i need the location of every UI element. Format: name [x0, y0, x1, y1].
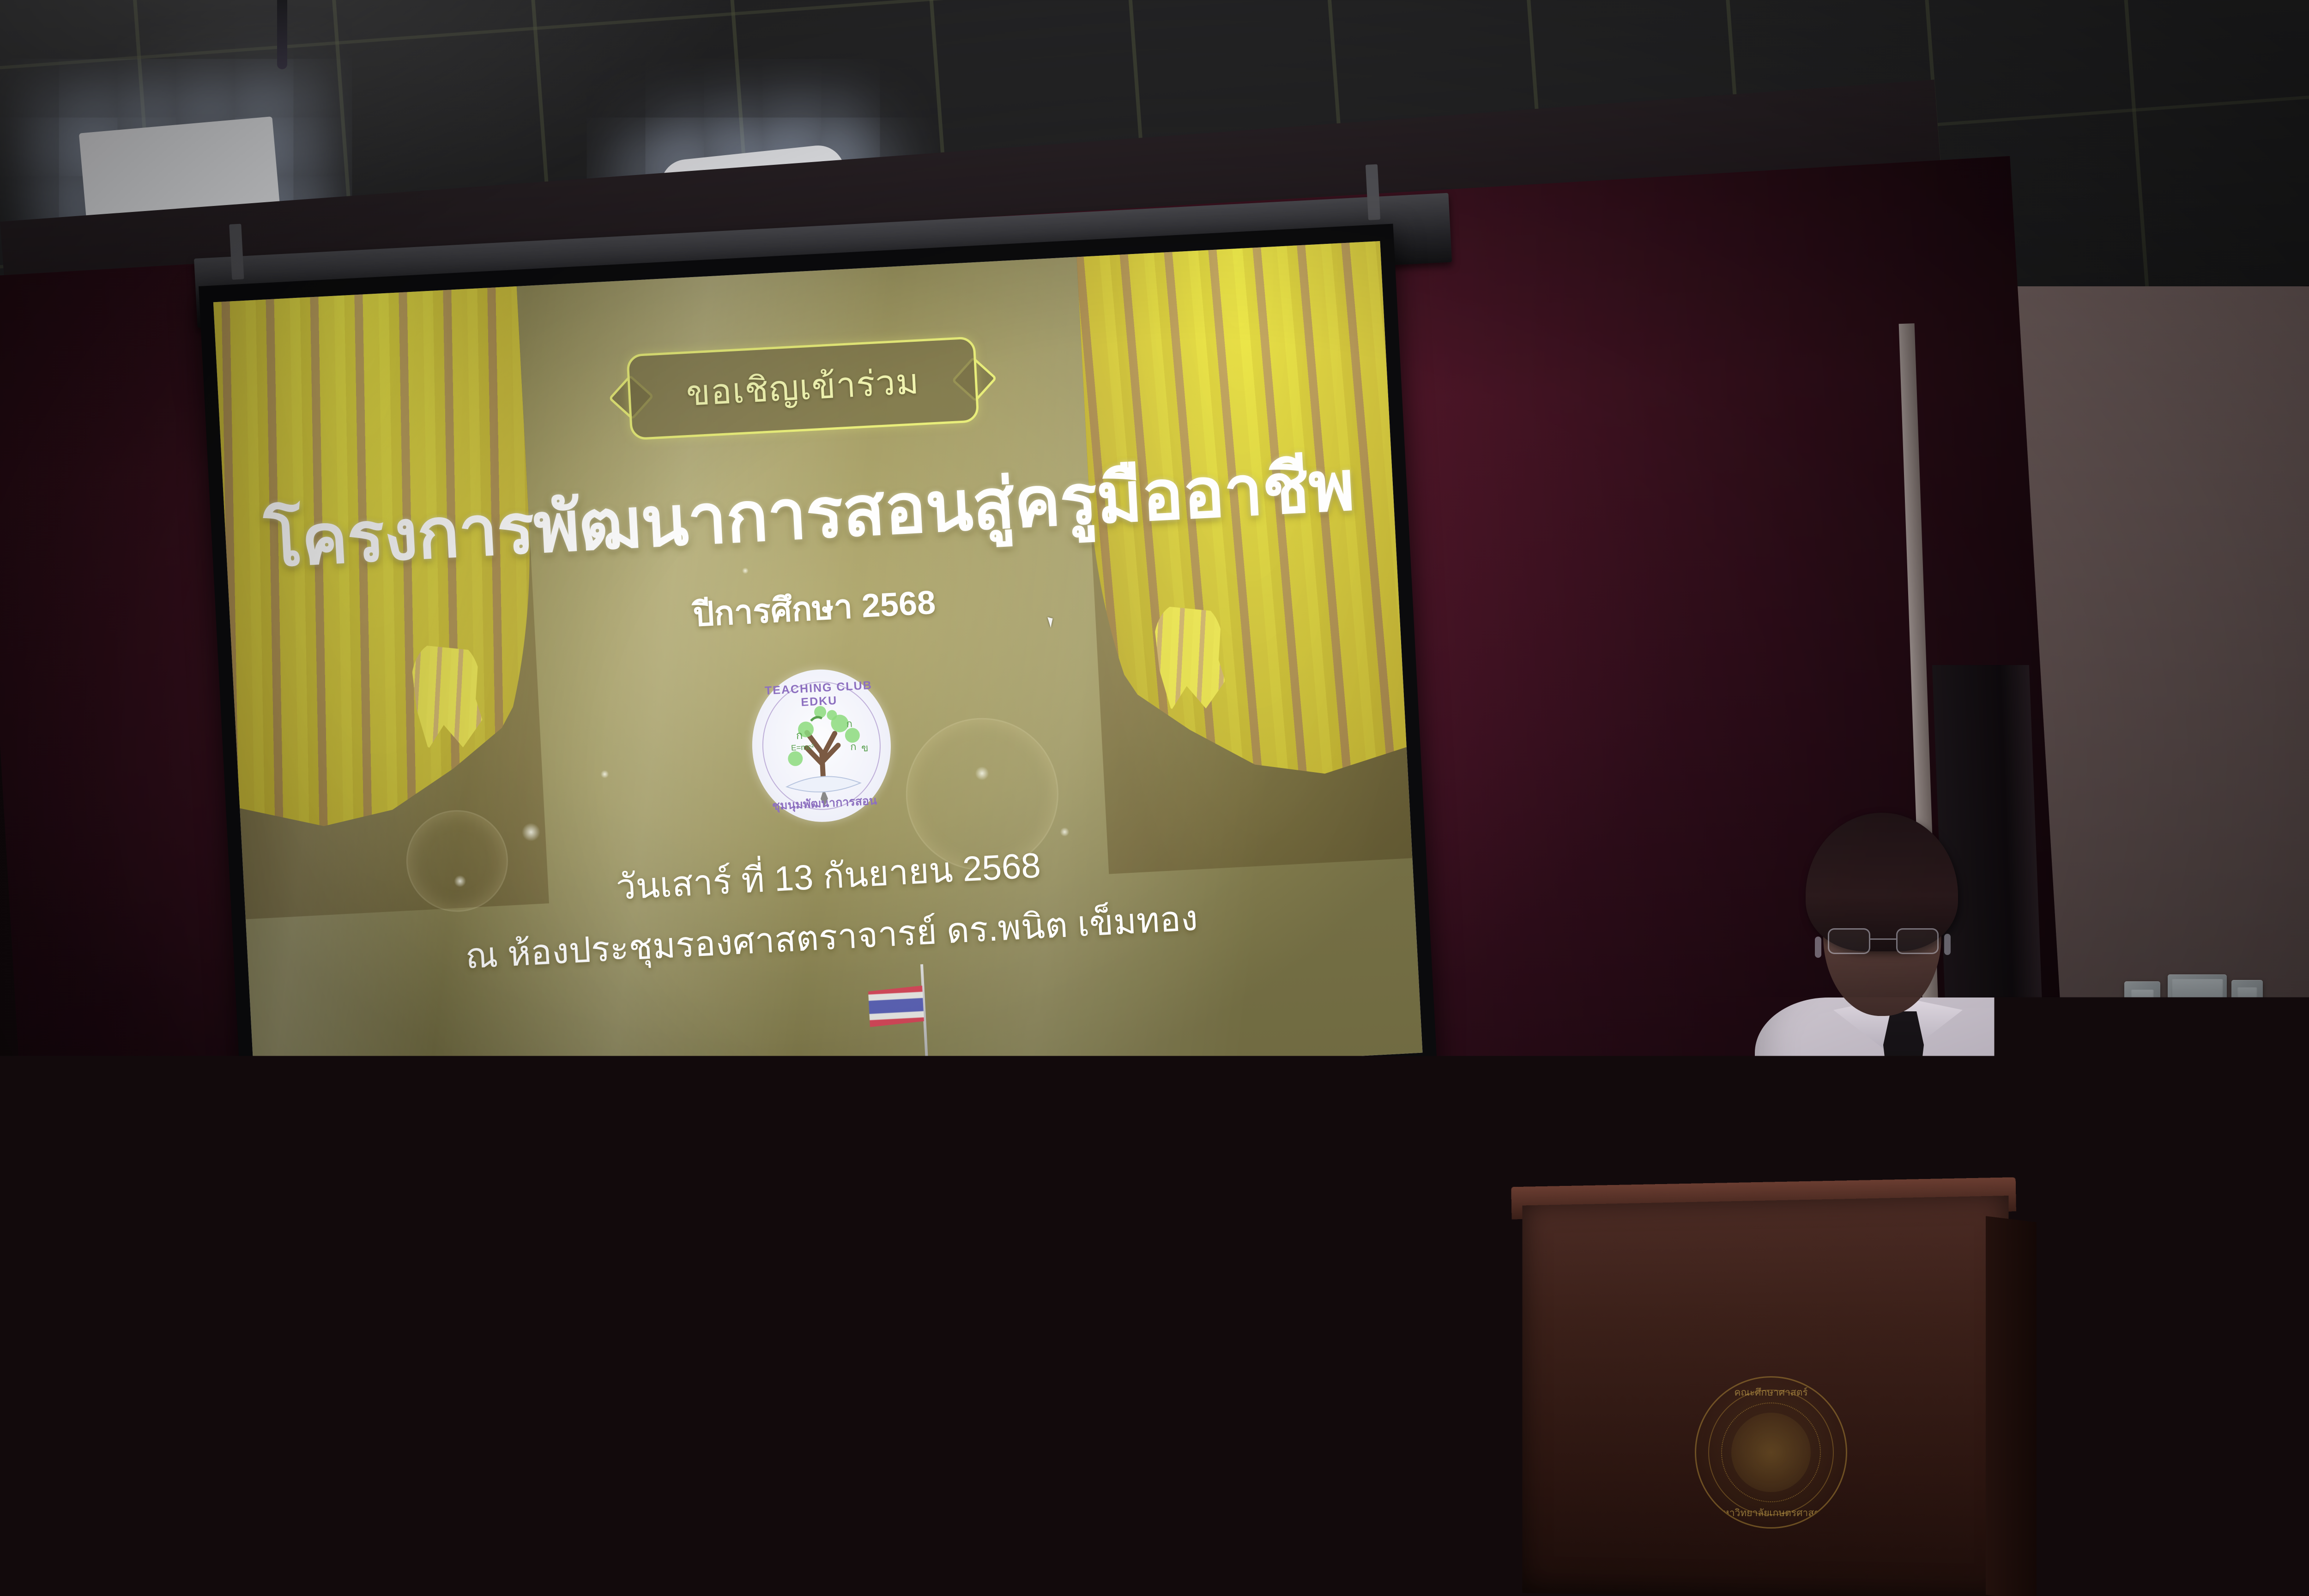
lily-flower — [1769, 1081, 1838, 1150]
presentation-slide: ขอเชิญเข้าร่วม โครงการพัฒนาการสอนสู่ครูม… — [213, 241, 1423, 1114]
teaching-club-logo: TEACHING CLUB EDKU ก ก — [748, 666, 895, 825]
slide-title: โครงการพัฒนาการสอนสู่ครูมืออาชีพ — [262, 430, 1357, 597]
seal-top-text: คณะศึกษาศาสตร์ — [1696, 1385, 1846, 1400]
eyeglasses-icon — [1828, 928, 1939, 955]
screen-bar-label: PROJECTION SCREEN — [701, 1114, 792, 1126]
auditorium-photo-scene: ขอเชิญเข้าร่วม โครงการพัฒนาการสอนสู่ครูม… — [0, 0, 2309, 1596]
svg-text:E=mc²: E=mc² — [791, 743, 815, 753]
auditorium-chair-2 — [0, 1265, 157, 1404]
pipe-hook-icon — [2276, 997, 2303, 1034]
seal-bottom-text: มหาวิทยาลัยเกษตรศาสตร์ — [1696, 1505, 1846, 1521]
light-switch-plate-right[interactable] — [2231, 980, 2263, 1032]
lily-flower — [1665, 1115, 1734, 1185]
university-seal: คณะศึกษาศาสตร์ มหาวิทยาลัยเกษตรศาสตร์ — [1695, 1376, 1847, 1529]
light-switch-plate-center[interactable] — [2168, 974, 2227, 1034]
auditorium-chair-3 — [0, 1145, 9, 1330]
ear-highlight-left — [1815, 937, 1821, 958]
ceiling-hanger-rod — [277, 0, 287, 69]
svg-text:ก: ก — [796, 729, 803, 742]
light-switch-plate-left[interactable] — [2124, 981, 2160, 1032]
chair-highlight — [18, 1131, 166, 1150]
rocker-switch-wide[interactable] — [2171, 979, 2223, 1003]
svg-text:ก: ก — [846, 718, 853, 730]
rocker-switch[interactable] — [2131, 1009, 2154, 1025]
flower-arrangement — [1584, 1030, 1907, 1238]
invitation-ribbon: ขอเชิญเข้าร่วม — [626, 336, 979, 440]
ear-highlight-right — [1944, 934, 1951, 955]
slide-venue-line: ณ ห้องประชุมรองศาสตราจารย์ ดร.พนิต เข็มท… — [464, 890, 1199, 984]
screen-surface: ขอเชิญเข้าร่วม โครงการพัฒนาการสอนสู่ครูม… — [213, 241, 1423, 1114]
svg-text:ก: ก — [850, 741, 857, 753]
chair-highlight — [0, 1312, 92, 1324]
power-outlet[interactable] — [2170, 1047, 2226, 1080]
rocker-switch[interactable] — [2131, 990, 2154, 1005]
svg-text:ข: ข — [861, 742, 869, 754]
rocker-switch[interactable] — [2237, 987, 2257, 1003]
rocker-switch[interactable] — [2237, 1008, 2257, 1023]
invitation-ribbon-label: ขอเชิญเข้าร่วม — [685, 354, 921, 421]
slide-subtitle: ปีการศึกษา 2568 — [692, 575, 937, 641]
projection-screen: ขอเชิญเข้าร่วม โครงการพัฒนาการสอนสู่ครูม… — [199, 224, 1438, 1144]
rocker-switch-wide[interactable] — [2171, 1006, 2223, 1030]
podium-side — [1986, 1216, 2037, 1596]
